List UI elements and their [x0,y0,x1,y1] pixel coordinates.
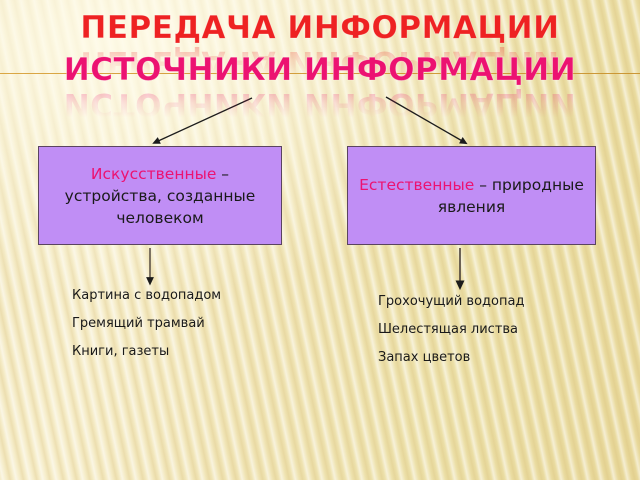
list-item: Книги, газеты [72,344,221,359]
example-list-natural: Грохочущий водопад Шелестящая листва Зап… [378,294,524,378]
concept-dash-natural: – [474,176,492,194]
title-line-2-reflection: ИСТОЧНИКИ ИНФОРМАЦИИ [0,86,640,122]
list-item: Гремящий трамвай [72,316,221,331]
concept-keyword-natural: Естественные [359,176,474,194]
concept-dash-artificial: – [216,165,229,183]
list-item: Запах цветов [378,350,524,365]
concept-box-natural-text: Естественные – природные явления [348,174,595,218]
concept-box-natural: Естественные – природные явления [347,146,596,245]
title-line-2-wrapper: ИСТОЧНИКИ ИНФОРМАЦИИ ИСТОЧНИКИ ИНФОРМАЦИ… [0,52,640,92]
arrow-title-to-natural [386,97,464,142]
example-list-artificial: Картина с водопадом Гремящий трамвай Кни… [72,288,221,372]
title-line-1-wrapper: ПЕРЕДАЧА ИНФОРМАЦИИ ПЕРЕДАЧА ИНФОРМАЦИИ [0,10,640,50]
title-line-2: ИСТОЧНИКИ ИНФОРМАЦИИ [0,52,640,88]
slide-canvas: ПЕРЕДАЧА ИНФОРМАЦИИ ПЕРЕДАЧА ИНФОРМАЦИИ … [0,0,640,480]
title-line-1: ПЕРЕДАЧА ИНФОРМАЦИИ [0,10,640,46]
list-item: Картина с водопадом [72,288,221,303]
list-item: Шелестящая листва [378,322,524,337]
concept-keyword-artificial: Искусственные [91,165,216,183]
arrow-title-to-artificial [156,98,252,142]
list-item: Грохочущий водопад [378,294,524,309]
concept-description-artificial: устройства, созданные человеком [65,187,256,227]
concept-box-artificial-text: Искусственные – устройства, созданные че… [39,163,281,229]
slide-title-block: ПЕРЕДАЧА ИНФОРМАЦИИ ПЕРЕДАЧА ИНФОРМАЦИИ … [0,10,640,92]
concept-box-artificial: Искусственные – устройства, созданные че… [38,146,282,245]
